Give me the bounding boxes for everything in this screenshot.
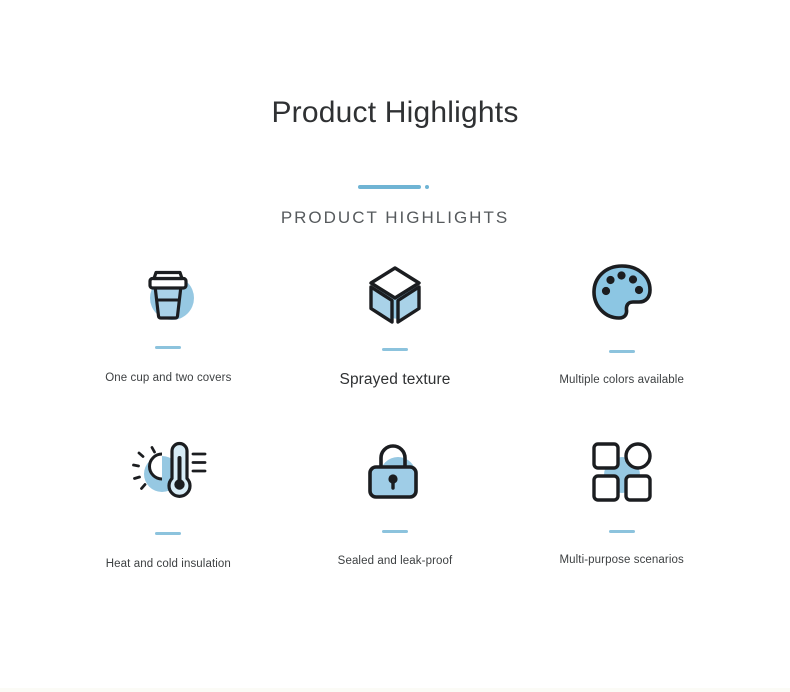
feature-caption: Heat and cold insulation	[106, 558, 231, 570]
accent-bar	[382, 348, 408, 351]
padlock-icon	[353, 436, 437, 508]
bottom-edge-strip	[0, 688, 790, 692]
feature-caption: Sprayed texture	[340, 371, 451, 389]
feature-caption: Multiple colors available	[559, 374, 684, 386]
feature-item[interactable]: Sealed and leak-proof	[282, 436, 509, 614]
grid-scenarios-icon	[580, 436, 664, 508]
paint-palette-icon	[580, 258, 664, 330]
accent-bar	[609, 530, 635, 533]
feature-item[interactable]: Heat and cold insulation	[55, 436, 282, 614]
divider-line	[358, 185, 421, 189]
coffee-cup-icon	[126, 258, 210, 330]
accent-bar	[155, 346, 181, 349]
feature-grid: One cup and two covers Sprayed texture	[55, 258, 735, 614]
accent-bar	[609, 350, 635, 353]
line-dot-divider	[0, 181, 790, 193]
feature-item[interactable]: One cup and two covers	[55, 258, 282, 436]
feature-item[interactable]: Sprayed texture	[282, 258, 509, 436]
page-title: Product Highlights	[0, 95, 790, 131]
page-subtitle: PRODUCT HIGHLIGHTS	[0, 208, 790, 228]
feature-caption: Sealed and leak-proof	[338, 555, 453, 567]
divider-dot	[425, 185, 429, 189]
feature-caption: Multi-purpose scenarios	[559, 554, 683, 566]
feature-item[interactable]: Multiple colors available	[508, 258, 735, 436]
cube-box-icon	[353, 258, 437, 330]
accent-bar	[155, 532, 181, 535]
page-header: Product Highlights PRODUCT HIGHLIGHTS	[0, 0, 790, 228]
feature-caption: One cup and two covers	[105, 372, 231, 384]
product-highlights-page: Product Highlights PRODUCT HIGHLIGHTS On…	[0, 0, 790, 692]
accent-bar	[382, 530, 408, 533]
thermometer-sun-icon	[126, 436, 210, 508]
feature-item[interactable]: Multi-purpose scenarios	[508, 436, 735, 614]
